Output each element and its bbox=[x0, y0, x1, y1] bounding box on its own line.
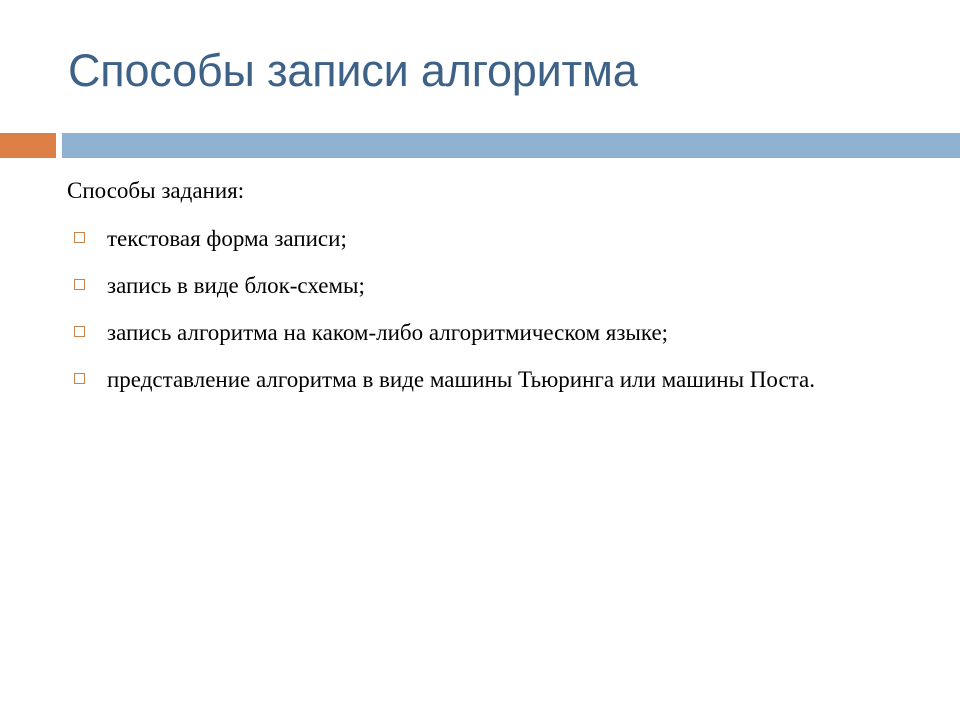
divider-accent-block bbox=[0, 133, 56, 158]
title-divider bbox=[0, 133, 960, 158]
list-item-label: представление алгоритма в виде машины Ть… bbox=[107, 363, 926, 396]
list-item-label: запись алгоритма на каком-либо алгоритми… bbox=[107, 316, 926, 349]
list-item: представление алгоритма в виде машины Ть… bbox=[66, 363, 926, 396]
page-title: Способы записи алгоритма bbox=[68, 44, 908, 98]
square-bullet-icon bbox=[74, 326, 85, 337]
slide-body: Способы задания: текстовая форма записи;… bbox=[66, 176, 926, 396]
list-item-label: запись в виде блок-схемы; bbox=[107, 269, 926, 302]
slide: Способы записи алгоритма Способы задания… bbox=[0, 0, 960, 720]
list-item: запись в виде блок-схемы; bbox=[66, 269, 926, 302]
square-bullet-icon bbox=[74, 279, 85, 290]
list-item: запись алгоритма на каком-либо алгоритми… bbox=[66, 316, 926, 349]
bullet-list: текстовая форма записи; запись в виде бл… bbox=[66, 222, 926, 396]
list-item-label: текстовая форма записи; bbox=[107, 222, 926, 255]
list-item: текстовая форма записи; bbox=[66, 222, 926, 255]
square-bullet-icon bbox=[74, 373, 85, 384]
square-bullet-icon bbox=[74, 232, 85, 243]
intro-text: Способы задания: bbox=[66, 176, 926, 206]
divider-bar bbox=[62, 133, 960, 158]
